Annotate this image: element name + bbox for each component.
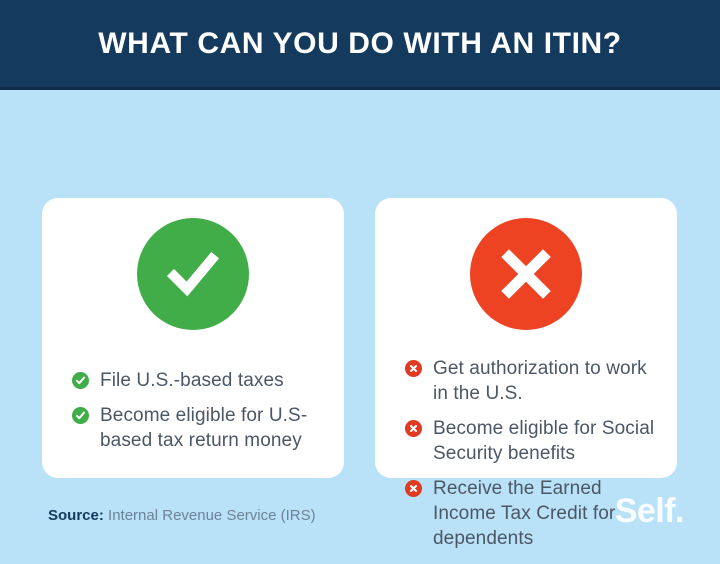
cross-circle-bullet-icon xyxy=(405,360,422,377)
list-item-label: Get authorization to work in the U.S. xyxy=(433,356,655,406)
cross-circle-icon xyxy=(470,218,582,330)
check-circle-bullet-icon xyxy=(72,407,89,424)
list-item: File U.S.-based taxes xyxy=(72,368,322,393)
cards-container: File U.S.-based taxes Become eligible fo… xyxy=(0,90,720,478)
list-item: Become eligible for Social Security bene… xyxy=(405,416,655,466)
list-item-label: Become eligible for U.S-based tax return… xyxy=(100,403,322,453)
check-circle-icon xyxy=(137,218,249,330)
cross-circle-bullet-icon xyxy=(405,420,422,437)
list-item-label: File U.S.-based taxes xyxy=(100,368,284,393)
list-item-label: Become eligible for Social Security bene… xyxy=(433,416,655,466)
page-title: WHAT CAN YOU DO WITH AN ITIN? xyxy=(98,27,621,61)
self-logo: Self. xyxy=(615,492,684,531)
itin-infographic: WHAT CAN YOU DO WITH AN ITIN? File U.S.- xyxy=(0,0,720,564)
source-value: Internal Revenue Service (IRS) xyxy=(108,507,316,524)
list-item: Become eligible for U.S-based tax return… xyxy=(72,403,322,453)
check-circle-bullet-icon xyxy=(72,372,89,389)
header-banner: WHAT CAN YOU DO WITH AN ITIN? xyxy=(0,0,720,90)
source-attribution: Source: Internal Revenue Service (IRS) xyxy=(48,506,316,526)
footer: Source: Internal Revenue Service (IRS) S… xyxy=(0,478,720,564)
list-can-do: File U.S.-based taxes Become eligible fo… xyxy=(42,368,344,463)
list-item: Get authorization to work in the U.S. xyxy=(405,356,655,406)
card-cannot-do: Get authorization to work in the U.S. Be… xyxy=(375,198,677,478)
source-label: Source: xyxy=(48,507,104,524)
card-can-do: File U.S.-based taxes Become eligible fo… xyxy=(42,198,344,478)
